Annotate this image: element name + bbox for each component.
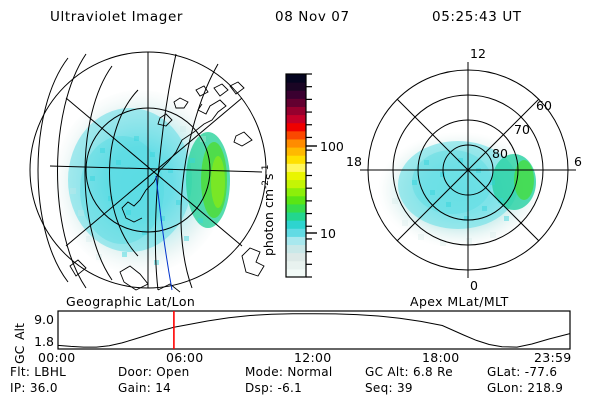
aurora-emission-apex xyxy=(378,132,542,248)
header-bar: Ultraviolet Imager 08 Nov 07 05:25:43 UT xyxy=(0,6,600,32)
colorbar-svg: 100 10 photon cm-2s-1 xyxy=(255,60,345,290)
instrument-title: Ultraviolet Imager xyxy=(50,9,183,25)
mlat-label-70: 70 xyxy=(514,122,530,137)
status-glon: GLon: 218.9 xyxy=(487,381,563,395)
apex-mlt-svg: 12 6 0 18 60 70 80 xyxy=(340,40,600,300)
mlt-label-18: 18 xyxy=(346,154,362,169)
status-gain: Gain: 14 xyxy=(118,381,171,395)
gc-altitude-strip: Alt GC 9.0 1.8 00:00 06:00 12:00 18:00 2… xyxy=(0,306,600,360)
geographic-map-panel xyxy=(30,40,270,300)
svg-text:photon cm-2s-1: photon cm-2s-1 xyxy=(261,165,276,256)
geographic-map-svg xyxy=(30,40,270,300)
status-door: Door: Open xyxy=(118,365,190,379)
mlt-label-0: 0 xyxy=(470,278,478,293)
apex-mlt-panel: 12 6 0 18 60 70 80 xyxy=(340,40,600,300)
mlt-spokes xyxy=(360,62,576,278)
status-gc-alt: GC Alt: 6.8 Re xyxy=(365,365,453,379)
status-flt: Flt: LBHL xyxy=(10,365,66,379)
status-seq: Seq: 39 xyxy=(365,381,413,395)
mlt-label-12: 12 xyxy=(470,46,486,61)
observation-date: 08 Nov 07 xyxy=(275,9,350,25)
status-mode: Mode: Normal xyxy=(245,365,333,379)
mlat-label-80: 80 xyxy=(492,146,508,161)
status-ip: IP: 36.0 xyxy=(10,381,58,395)
observation-time: 05:25:43 UT xyxy=(432,9,522,25)
colorbar-minor-ticks xyxy=(306,74,312,277)
gc-alt-trace xyxy=(58,314,570,347)
colorbar-axis-label: photon cm-2s-1 xyxy=(261,165,276,256)
mlat-label-60: 60 xyxy=(536,98,552,113)
colorbar-axis-label-exp1: -2 xyxy=(261,180,271,189)
gc-alt-axis-box xyxy=(58,311,570,349)
uvi-screenshot-root: Ultraviolet Imager 08 Nov 07 05:25:43 UT xyxy=(0,0,600,400)
colorbar-gradient xyxy=(286,74,306,278)
status-dsp: Dsp: -6.1 xyxy=(245,381,302,395)
colorbar-tick-label-10: 10 xyxy=(320,226,336,241)
status-footer: Flt: LBHL IP: 36.0 Door: Open Gain: 14 M… xyxy=(0,363,600,400)
status-glat: GLat: -77.6 xyxy=(487,365,557,379)
colorbar-panel: 100 10 photon cm-2s-1 xyxy=(255,60,345,290)
colorbar-axis-label-main: photon cm xyxy=(261,189,276,256)
mlt-label-6: 6 xyxy=(574,154,582,169)
colorbar-axis-label-exp2: -1 xyxy=(261,165,271,174)
